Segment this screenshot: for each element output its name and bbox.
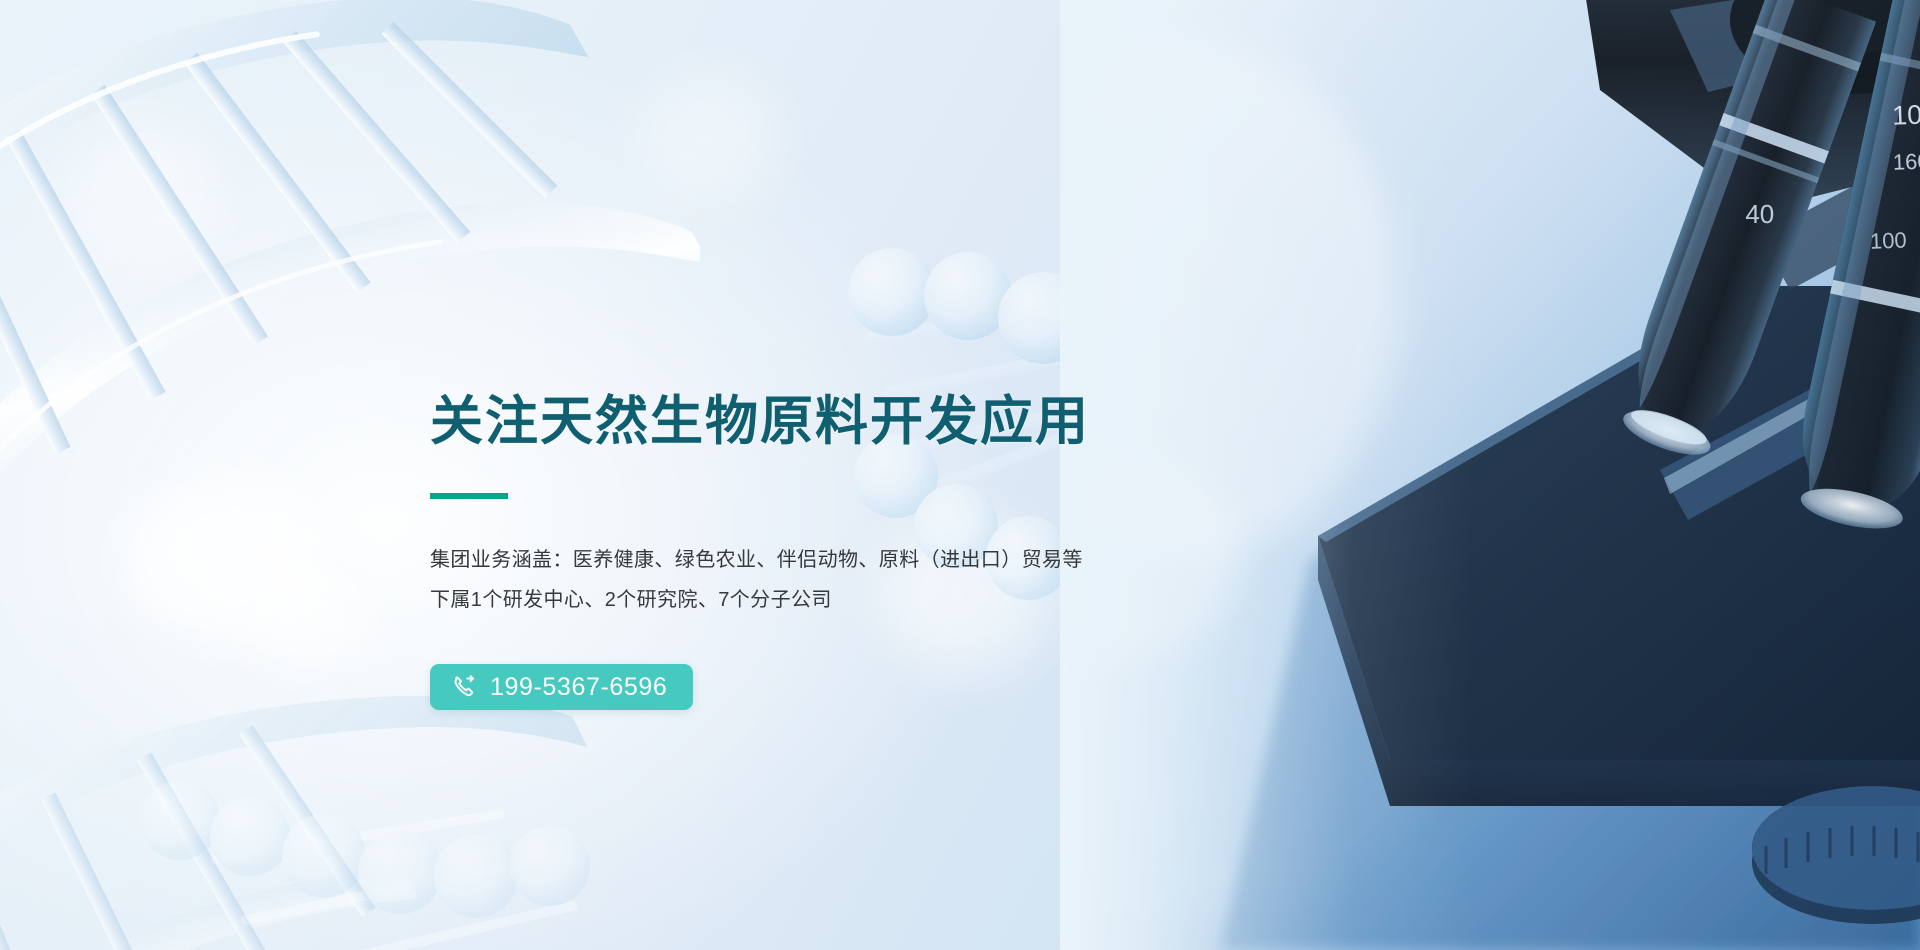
description-line-1: 集团业务涵盖：医养健康、绿色农业、伴侣动物、原料（进出口）贸易等 [430, 540, 1190, 580]
phone-forward-icon [452, 675, 477, 700]
bokeh-spot [60, 120, 220, 270]
hero-content: 关注天然生物原料开发应用 集团业务涵盖：医养健康、绿色农业、伴侣动物、原料（进出… [430, 392, 1190, 710]
svg-text:100: 100 [1870, 227, 1908, 253]
description-line-2: 下属1个研发中心、2个研究院、7个分子公司 [430, 580, 1190, 620]
phone-cta-button[interactable]: 199-5367-6596 [430, 664, 693, 710]
phone-number-label: 199-5367-6596 [490, 675, 667, 700]
title-divider [430, 493, 508, 499]
page-title: 关注天然生物原料开发应用 [430, 392, 1190, 451]
svg-text:160/0.17: 160/0.17 [1892, 147, 1920, 175]
bokeh-spot [120, 480, 330, 640]
bokeh-spot [1195, 380, 1305, 485]
bokeh-spot [1210, 60, 1400, 230]
hero-description: 集团业务涵盖：医养健康、绿色农业、伴侣动物、原料（进出口）贸易等 下属1个研发中… [430, 540, 1190, 620]
bokeh-spot [1340, 170, 1470, 290]
svg-text:40: 40 [1745, 199, 1774, 229]
svg-text:100/1.25: 100/1.25 [1892, 97, 1920, 131]
bokeh-spot [1080, 250, 1230, 390]
hero-banner: 40 100/1.25 160/0.17 100 [0, 0, 1920, 950]
bokeh-spot [245, 560, 365, 670]
bokeh-spot [640, 70, 780, 200]
